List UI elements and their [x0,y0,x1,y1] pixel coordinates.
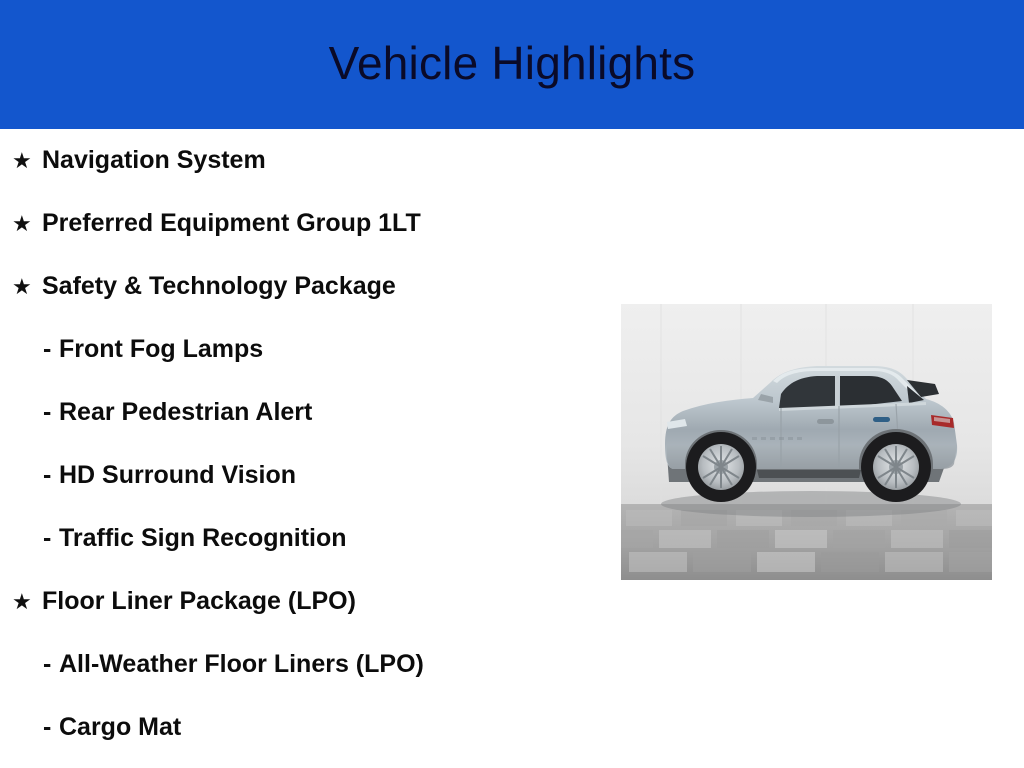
star-bullet-icon: ★ [12,591,42,613]
dash-bullet-icon: - [43,526,59,551]
feature-sublabel: All-Weather Floor Liners (LPO) [59,652,424,677]
star-bullet-icon: ★ [12,213,42,235]
feature-subitem: -All-Weather Floor Liners (LPO) [0,633,612,696]
feature-sublabel: Rear Pedestrian Alert [59,400,312,425]
vehicle-photo [621,304,992,580]
feature-sublabel: Cargo Mat [59,715,181,740]
feature-label: Safety & Technology Package [42,274,396,299]
feature-subitem: -Cargo Mat [0,696,612,759]
dash-bullet-icon: - [43,337,59,362]
feature-item: ★Safety & Technology Package [0,255,612,318]
feature-item: ★Preferred Equipment Group 1LT [0,192,612,255]
feature-item: ★Navigation System [0,129,612,192]
feature-subitem: -Traffic Sign Recognition [0,507,612,570]
dash-bullet-icon: - [43,400,59,425]
dash-bullet-icon: - [43,652,59,677]
page-title: Vehicle Highlights [329,40,696,90]
feature-item: ★Floor Liner Package (LPO) [0,570,612,633]
feature-sublabel: Traffic Sign Recognition [59,526,347,551]
feature-label: Floor Liner Package (LPO) [42,589,356,614]
feature-label: Preferred Equipment Group 1LT [42,211,421,236]
feature-sublabel: HD Surround Vision [59,463,296,488]
dash-bullet-icon: - [43,715,59,740]
slide-header-band: Vehicle Highlights [0,0,1024,129]
feature-sublabel: Front Fog Lamps [59,337,263,362]
star-bullet-icon: ★ [12,150,42,172]
star-bullet-icon: ★ [12,276,42,298]
slide-canvas: Vehicle Highlights ★Navigation System★Pr… [0,0,1024,768]
feature-label: Navigation System [42,148,266,173]
vehicle-highlights-list: ★Navigation System★Preferred Equipment G… [0,129,612,759]
feature-subitem: -Front Fog Lamps [0,318,612,381]
feature-subitem: -Rear Pedestrian Alert [0,381,612,444]
dash-bullet-icon: - [43,463,59,488]
feature-subitem: -HD Surround Vision [0,444,612,507]
